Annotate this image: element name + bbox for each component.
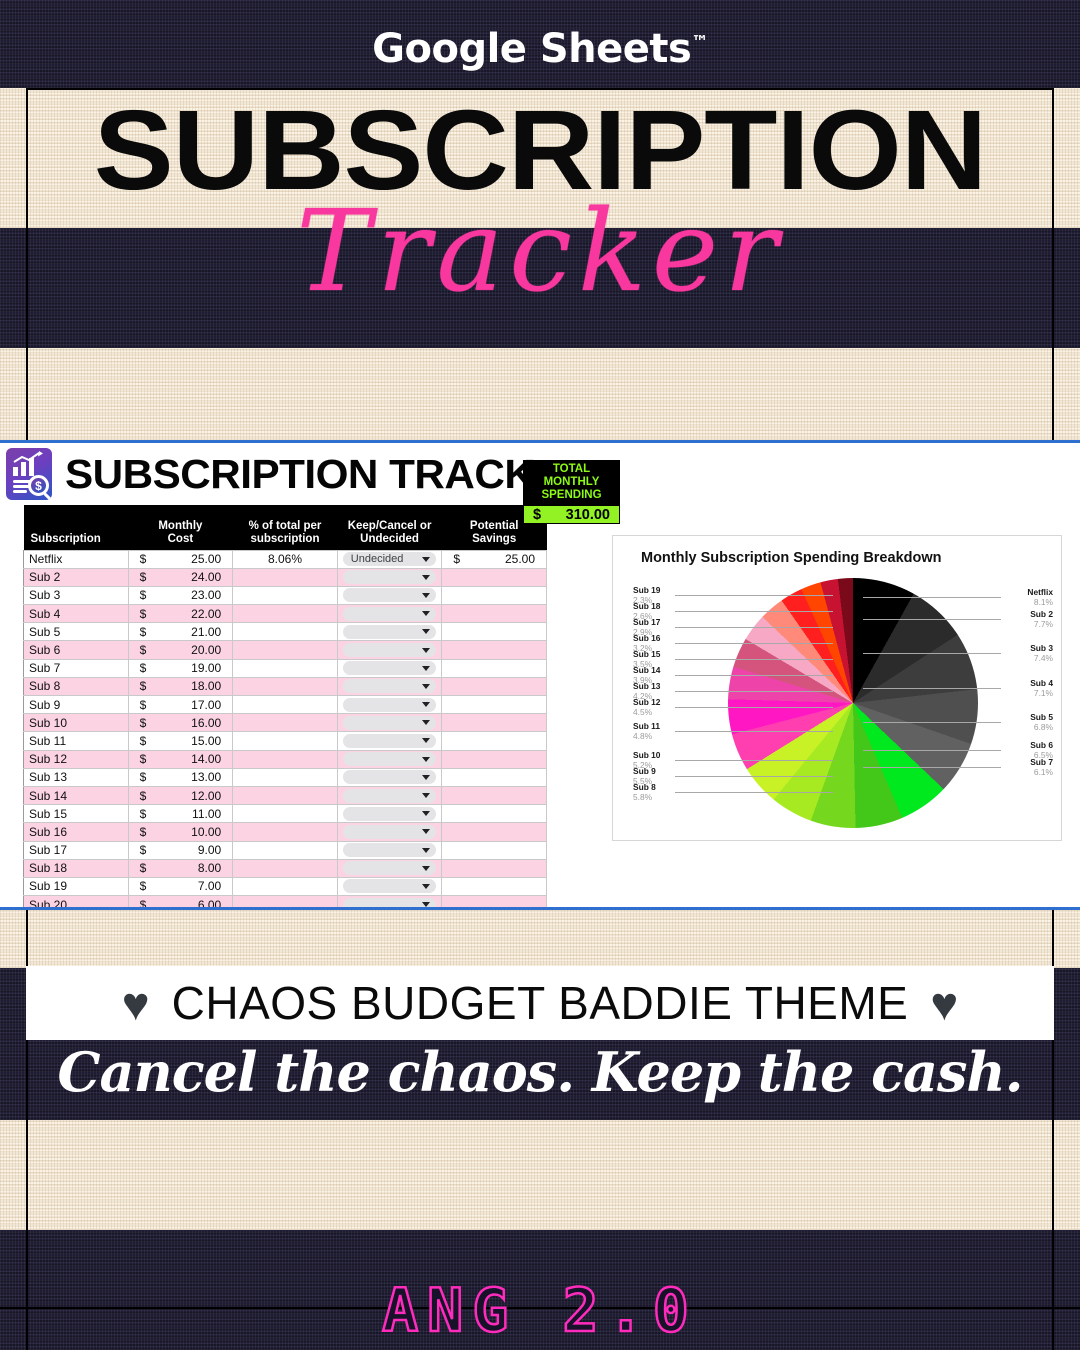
pie-label: Sub 114.8%	[633, 722, 660, 742]
chevron-down-icon[interactable]	[422, 902, 430, 907]
cell-keep-cancel-dropdown[interactable]	[337, 623, 442, 641]
cell-percent[interactable]	[233, 859, 338, 877]
chevron-down-icon[interactable]	[422, 775, 430, 780]
cell-percent[interactable]	[233, 623, 338, 641]
leader-line	[675, 611, 833, 612]
leader-line	[863, 619, 1001, 620]
cell-monthly-cost[interactable]: $19.00	[128, 659, 233, 677]
table-row[interactable]: Sub 15$11.00	[24, 805, 547, 823]
cell-keep-cancel-dropdown[interactable]	[337, 677, 442, 695]
table-row[interactable]: Sub 9$17.00	[24, 696, 547, 714]
cell-potential-savings[interactable]	[442, 641, 547, 659]
table-row[interactable]: Sub 13$13.00	[24, 768, 547, 786]
cell-monthly-cost[interactable]: $6.00	[128, 896, 233, 910]
table-row[interactable]: Sub 12$14.00	[24, 750, 547, 768]
table-row[interactable]: Sub 11$15.00	[24, 732, 547, 750]
cell-subscription[interactable]: Sub 19	[24, 877, 129, 895]
chevron-down-icon[interactable]	[422, 866, 430, 871]
pie-slices	[728, 578, 978, 828]
cell-potential-savings[interactable]	[442, 623, 547, 641]
cell-monthly-cost[interactable]: $22.00	[128, 605, 233, 623]
heart-icon-left: ♥	[122, 980, 150, 1027]
chevron-down-icon[interactable]	[422, 684, 430, 689]
table-row[interactable]: Sub 20$6.00	[24, 896, 547, 910]
cell-subscription[interactable]: Sub 4	[24, 605, 129, 623]
cell-potential-savings[interactable]	[442, 732, 547, 750]
cell-percent[interactable]	[233, 823, 338, 841]
leader-line	[863, 722, 1001, 723]
poster-canvas: Google Sheets™ SUBSCRIPTION Tracker $ SU…	[0, 0, 1080, 1350]
chevron-down-icon[interactable]	[422, 848, 430, 853]
cell-subscription[interactable]: Sub 6	[24, 641, 129, 659]
cell-percent[interactable]	[233, 696, 338, 714]
pie-label: Sub 47.1%	[1030, 679, 1053, 699]
table-body: Netflix$25.008.06%Undecided$25.00Sub 2$2…	[24, 550, 547, 910]
cell-percent[interactable]	[233, 677, 338, 695]
cell-percent[interactable]	[233, 841, 338, 859]
chevron-down-icon[interactable]	[422, 793, 430, 798]
pie-label-percent: 4.5%	[633, 708, 660, 718]
pie-label-percent: 5.8%	[633, 793, 656, 803]
cell-keep-cancel-dropdown[interactable]	[337, 568, 442, 586]
trademark-symbol: ™	[691, 33, 708, 53]
cell-subscription[interactable]: Sub 16	[24, 823, 129, 841]
cell-keep-cancel-dropdown[interactable]	[337, 896, 442, 910]
leader-line	[863, 653, 1001, 654]
pie-label-percent: 7.1%	[1030, 689, 1053, 699]
leader-line	[675, 643, 833, 644]
cell-monthly-cost[interactable]: $23.00	[128, 586, 233, 604]
total-currency: $	[533, 507, 541, 523]
col-subscription[interactable]: Subscription	[24, 505, 129, 550]
chevron-down-icon[interactable]	[422, 720, 430, 725]
table-row[interactable]: Sub 3$23.00	[24, 586, 547, 604]
cell-monthly-cost[interactable]: $11.00	[128, 805, 233, 823]
cell-subscription[interactable]: Sub 11	[24, 732, 129, 750]
chevron-down-icon[interactable]	[422, 702, 430, 707]
cell-monthly-cost[interactable]: $8.00	[128, 859, 233, 877]
table-row[interactable]: Sub 2$24.00	[24, 568, 547, 586]
cell-percent[interactable]	[233, 568, 338, 586]
cell-monthly-cost[interactable]: $25.00	[128, 550, 233, 568]
pie-label: Sub 27.7%	[1030, 610, 1053, 630]
cell-subscription[interactable]: Sub 9	[24, 696, 129, 714]
leader-line	[675, 659, 833, 660]
chart-card: Monthly Subscription Spending Breakdown …	[612, 535, 1062, 841]
tagline: Cancel the chaos. Keep the cash.	[0, 1040, 1080, 1104]
cell-percent[interactable]	[233, 641, 338, 659]
theme-banner-text: CHAOS BUDGET BADDIE THEME	[172, 976, 909, 1030]
cell-subscription[interactable]: Sub 20	[24, 896, 129, 910]
cell-subscription[interactable]: Sub 2	[24, 568, 129, 586]
total-monthly-spending-value: $ 310.00	[523, 505, 620, 524]
cell-subscription[interactable]: Netflix	[24, 550, 129, 568]
pie-label: Sub 37.4%	[1030, 644, 1053, 664]
stripe-cream-3	[0, 908, 1080, 968]
chevron-down-icon[interactable]	[422, 738, 430, 743]
cell-keep-cancel-dropdown[interactable]	[337, 586, 442, 604]
chevron-down-icon[interactable]	[422, 829, 430, 834]
subscription-table: Subscription Monthly Cost % of total per…	[23, 505, 547, 910]
cell-percent[interactable]	[233, 877, 338, 895]
pie-label-percent: 4.8%	[633, 732, 660, 742]
pie-label: Sub 124.5%	[633, 698, 660, 718]
cell-subscription[interactable]: Sub 10	[24, 714, 129, 732]
spreadsheet-analytics-icon: $	[6, 448, 52, 500]
cell-keep-cancel-dropdown[interactable]	[337, 841, 442, 859]
cell-potential-savings[interactable]	[442, 659, 547, 677]
table-row[interactable]: Sub 16$10.00	[24, 823, 547, 841]
cell-potential-savings[interactable]	[442, 823, 547, 841]
cell-subscription[interactable]: Sub 7	[24, 659, 129, 677]
cell-monthly-cost[interactable]: $20.00	[128, 641, 233, 659]
cell-monthly-cost[interactable]: $12.00	[128, 786, 233, 804]
cell-potential-savings[interactable]	[442, 805, 547, 823]
chevron-down-icon[interactable]	[422, 884, 430, 889]
cell-potential-savings[interactable]	[442, 605, 547, 623]
cell-percent[interactable]	[233, 750, 338, 768]
leader-line	[863, 767, 1001, 768]
table-row[interactable]: Netflix$25.008.06%Undecided$25.00	[24, 550, 547, 568]
cell-potential-savings[interactable]	[442, 841, 547, 859]
table-row[interactable]: Sub 7$19.00	[24, 659, 547, 677]
cell-monthly-cost[interactable]: $17.00	[128, 696, 233, 714]
table-row[interactable]: Sub 4$22.00	[24, 605, 547, 623]
cell-keep-cancel-dropdown[interactable]	[337, 859, 442, 877]
chevron-down-icon[interactable]	[422, 757, 430, 762]
spreadsheet-body: Subscription Monthly Cost % of total per…	[0, 505, 1080, 910]
cell-percent[interactable]	[233, 714, 338, 732]
pie-chart	[728, 578, 978, 828]
chart-title: Monthly Subscription Spending Breakdown	[641, 550, 941, 566]
cell-keep-cancel-dropdown[interactable]	[337, 805, 442, 823]
pie-label-percent: 7.4%	[1030, 654, 1053, 664]
cell-monthly-cost[interactable]: $10.00	[128, 823, 233, 841]
table-row[interactable]: Sub 5$21.00	[24, 623, 547, 641]
spreadsheet-panel: $ SUBSCRIPTION TRACKER Subscription Mont…	[0, 440, 1080, 910]
cell-subscription[interactable]: Sub 12	[24, 750, 129, 768]
cell-potential-savings[interactable]	[442, 896, 547, 910]
leader-line	[675, 776, 833, 777]
cell-monthly-cost[interactable]: $24.00	[128, 568, 233, 586]
cell-percent[interactable]: 8.06%	[233, 550, 338, 568]
leader-line	[675, 627, 833, 628]
cell-subscription[interactable]: Sub 14	[24, 786, 129, 804]
cell-subscription[interactable]: Sub 13	[24, 768, 129, 786]
col-total-monthly-spending[interactable]: TOTAL MONTHLY SPENDING	[523, 460, 620, 505]
leader-line	[675, 731, 833, 732]
pie-label-percent: 6.1%	[1030, 768, 1053, 778]
pie-label-percent: 8.1%	[1027, 598, 1053, 608]
stripe-cream-2	[0, 348, 1080, 443]
col-keep-cancel[interactable]: Keep/Cancel or Undecided	[337, 505, 442, 550]
pie-label: Netflix8.1%	[1027, 588, 1053, 608]
cell-monthly-cost[interactable]: $9.00	[128, 841, 233, 859]
cell-keep-cancel-dropdown[interactable]	[337, 732, 442, 750]
theme-banner: ♥ CHAOS BUDGET BADDIE THEME ♥	[26, 966, 1054, 1040]
chevron-down-icon[interactable]	[422, 811, 430, 816]
cell-potential-savings[interactable]	[442, 786, 547, 804]
leader-line	[675, 675, 833, 676]
spreadsheet-title: SUBSCRIPTION TRACKER	[65, 451, 592, 498]
cell-monthly-cost[interactable]: $7.00	[128, 877, 233, 895]
leader-line	[863, 597, 1001, 598]
cell-subscription[interactable]: Sub 5	[24, 623, 129, 641]
cell-monthly-cost[interactable]: $18.00	[128, 677, 233, 695]
cell-subscription[interactable]: Sub 18	[24, 859, 129, 877]
brand-footer: ANG 2.0	[0, 1276, 1080, 1346]
leader-line	[675, 792, 833, 793]
cell-keep-cancel-dropdown[interactable]	[337, 605, 442, 623]
table-header: Subscription Monthly Cost % of total per…	[24, 505, 547, 550]
chevron-down-icon[interactable]	[422, 666, 430, 671]
leader-line	[863, 750, 1001, 751]
cell-keep-cancel-dropdown[interactable]	[337, 768, 442, 786]
cell-monthly-cost[interactable]: $13.00	[128, 768, 233, 786]
table-row[interactable]: Sub 14$12.00	[24, 786, 547, 804]
table-row[interactable]: Sub 8$18.00	[24, 677, 547, 695]
cell-potential-savings[interactable]: $25.00	[442, 550, 547, 568]
col-percent-of-total[interactable]: % of total per subscription	[233, 505, 338, 550]
cell-keep-cancel-dropdown[interactable]	[337, 641, 442, 659]
cell-potential-savings[interactable]	[442, 696, 547, 714]
cell-subscription[interactable]: Sub 3	[24, 586, 129, 604]
cell-potential-savings[interactable]	[442, 568, 547, 586]
chevron-down-icon[interactable]	[422, 557, 430, 562]
cell-percent[interactable]	[233, 659, 338, 677]
cell-monthly-cost[interactable]: $14.00	[128, 750, 233, 768]
pie-label: Sub 85.8%	[633, 783, 656, 803]
table-row[interactable]: Sub 10$16.00	[24, 714, 547, 732]
cell-keep-cancel-dropdown[interactable]: Undecided	[337, 550, 442, 568]
pie-label: Sub 56.8%	[1030, 713, 1053, 733]
cell-percent[interactable]	[233, 786, 338, 804]
cell-keep-cancel-dropdown[interactable]	[337, 750, 442, 768]
cell-percent[interactable]	[233, 732, 338, 750]
cell-potential-savings[interactable]	[442, 750, 547, 768]
cell-potential-savings[interactable]	[442, 768, 547, 786]
col-monthly-cost[interactable]: Monthly Cost	[128, 505, 233, 550]
leader-line	[675, 691, 833, 692]
pie-label-percent: 7.7%	[1030, 620, 1053, 630]
heart-icon-right: ♥	[930, 980, 958, 1027]
leader-line	[675, 707, 833, 708]
cell-subscription[interactable]: Sub 17	[24, 841, 129, 859]
cell-percent[interactable]	[233, 605, 338, 623]
cell-keep-cancel-dropdown[interactable]	[337, 877, 442, 895]
cell-monthly-cost[interactable]: $21.00	[128, 623, 233, 641]
cell-potential-savings[interactable]	[442, 859, 547, 877]
table-row[interactable]: Sub 19$7.00	[24, 877, 547, 895]
chevron-down-icon[interactable]	[422, 611, 430, 616]
cell-monthly-cost[interactable]: $16.00	[128, 714, 233, 732]
cell-potential-savings[interactable]	[442, 877, 547, 895]
table-row[interactable]: Sub 18$8.00	[24, 859, 547, 877]
cell-keep-cancel-dropdown[interactable]	[337, 696, 442, 714]
cell-percent[interactable]	[233, 805, 338, 823]
leader-line	[675, 760, 833, 761]
brand-text: Google Sheets	[372, 26, 691, 72]
page-subtitle-script: Tracker	[0, 196, 1080, 308]
table-row[interactable]: Sub 6$20.00	[24, 641, 547, 659]
cell-potential-savings[interactable]	[442, 714, 547, 732]
total-amount: 310.00	[566, 507, 610, 523]
chevron-down-icon[interactable]	[422, 575, 430, 580]
cell-percent[interactable]	[233, 586, 338, 604]
cell-keep-cancel-dropdown[interactable]	[337, 823, 442, 841]
cell-potential-savings[interactable]	[442, 586, 547, 604]
cell-monthly-cost[interactable]: $15.00	[128, 732, 233, 750]
chevron-down-icon[interactable]	[422, 593, 430, 598]
cell-percent[interactable]	[233, 768, 338, 786]
stripe-cream-4	[0, 1120, 1080, 1230]
cell-subscription[interactable]: Sub 8	[24, 677, 129, 695]
cell-potential-savings[interactable]	[442, 677, 547, 695]
cell-keep-cancel-dropdown[interactable]	[337, 659, 442, 677]
pie-label-percent: 6.8%	[1030, 723, 1053, 733]
pie-label: Sub 76.1%	[1030, 758, 1053, 778]
table-row[interactable]: Sub 17$9.00	[24, 841, 547, 859]
leader-line	[863, 688, 1001, 689]
cell-subscription[interactable]: Sub 15	[24, 805, 129, 823]
leader-line	[675, 595, 833, 596]
cell-keep-cancel-dropdown[interactable]	[337, 714, 442, 732]
cell-keep-cancel-dropdown[interactable]	[337, 786, 442, 804]
chevron-down-icon[interactable]	[422, 629, 430, 634]
cell-percent[interactable]	[233, 896, 338, 910]
google-sheets-label: Google Sheets™	[0, 26, 1080, 72]
chevron-down-icon[interactable]	[422, 648, 430, 653]
